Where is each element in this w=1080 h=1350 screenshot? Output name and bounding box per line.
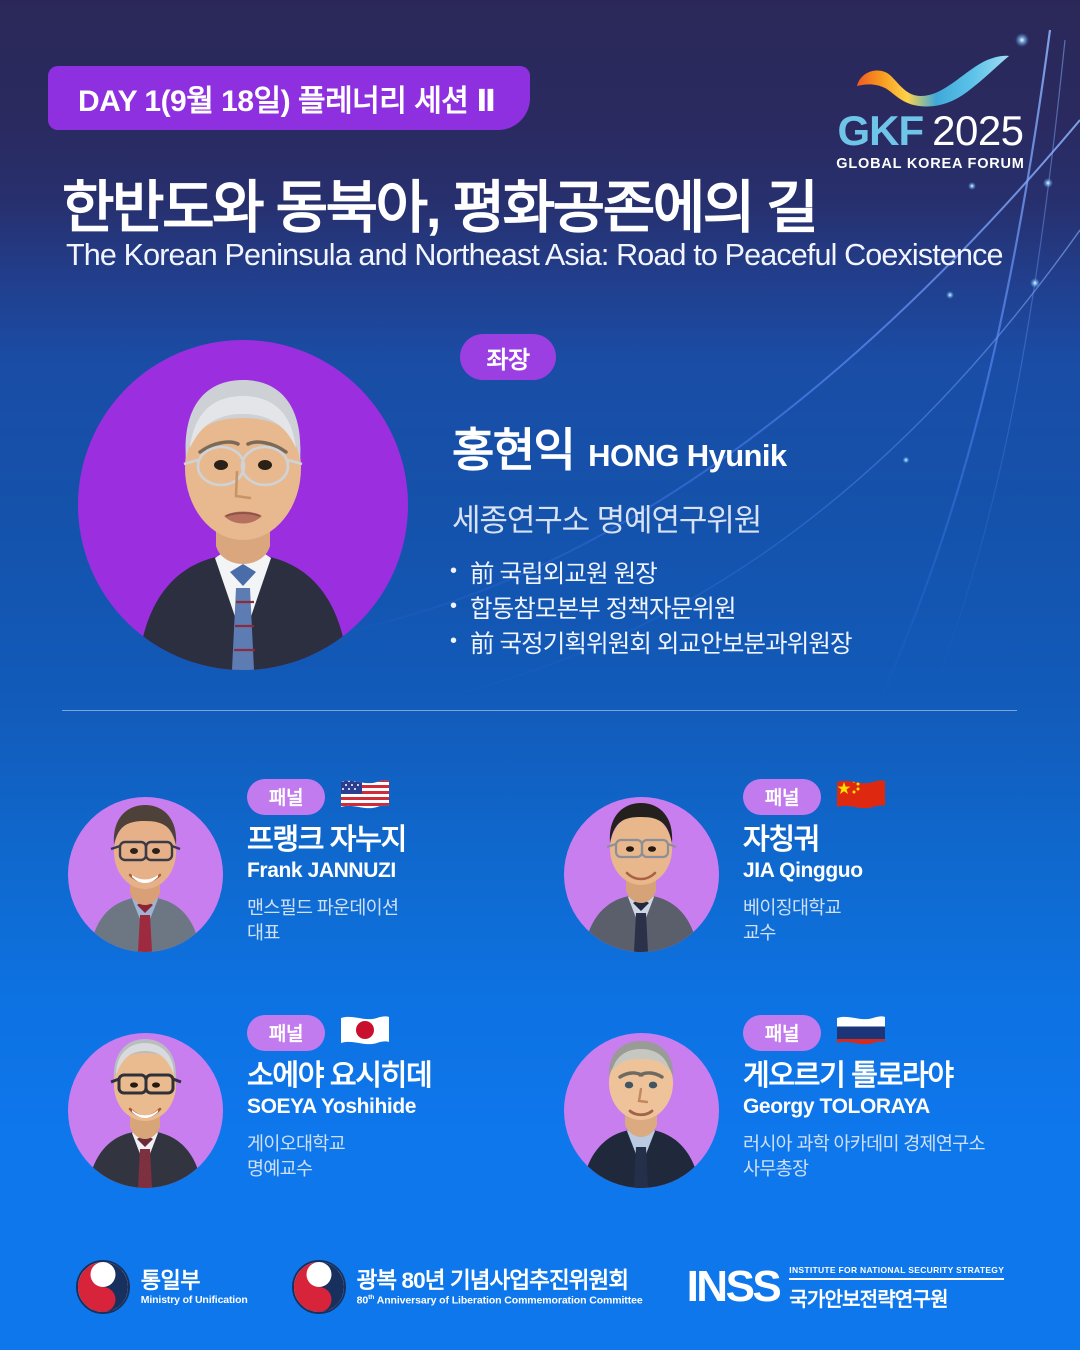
gkf-wave-icon: [851, 52, 1011, 108]
chair-avatar: [78, 300, 408, 670]
panelist-avatar: [62, 1004, 227, 1194]
gkf-logo: GKF 2025 GLOBAL KOREA FORUM: [823, 52, 1038, 172]
panelist-tagrow: 패널: [247, 1014, 431, 1051]
panelist-role-badge: 패널: [743, 779, 821, 815]
flag-usa-icon: [339, 778, 391, 815]
chair-affiliation: 세종연구소 명예연구위원: [452, 495, 761, 540]
panelist-name-english: JIA Qingguo: [743, 859, 887, 883]
mou-name-korean: 통일부: [141, 1268, 248, 1293]
panelist-info: 패널 게오르기 톨로라야 Georgy TOLORAYA 러시아 과학 아카데미…: [743, 1002, 985, 1182]
gkf-subtitle: GLOBAL KOREA FORUM: [823, 156, 1038, 172]
panelist-portrait-icon: [68, 1033, 223, 1188]
inss-name-korean: 국가안보전략연구원: [789, 1283, 1004, 1312]
inss-mark-text: INSS: [687, 1267, 780, 1307]
logo-ministry-of-unification: 통일부 Ministry of Unification: [76, 1260, 248, 1314]
day-session-badge: DAY 1(9월 18일) 플레너리 세션 Ⅱ: [48, 66, 530, 130]
panelist-info: 패널: [247, 766, 406, 946]
panelist-avatar-circle: [68, 797, 223, 952]
panelist-affiliation: 베이징대학교 교수: [743, 896, 887, 946]
inss-name-english: INSTITUTE FOR NATIONAL SECURITY STRATEGY: [789, 1265, 1004, 1275]
panelist-card-toloraya: 패널 게오르기 톨로라야 Georgy TOLORAYA 러시아 과학 아카데미…: [558, 1002, 1018, 1226]
chair-portrait-icon: [78, 340, 408, 670]
list-item: 前 국립외교원 원장: [450, 558, 852, 593]
gkf-year-text: 2025: [932, 110, 1023, 152]
panelist-grid: 패널: [0, 766, 1080, 1226]
panelist-info: 패널 소에야 요시히데 SOEYA Yoshihide 게이오대학교 명예교수: [247, 1002, 431, 1182]
inss-text-block: INSTITUTE FOR NATIONAL SECURITY STRATEGY…: [789, 1263, 1004, 1312]
panelist-name-korean: 게오르기 톨로라야: [743, 1059, 985, 1094]
logo-liberation-committee: 광복 80년 기념사업추진위원회 80th Anniversary of Lib…: [292, 1260, 643, 1314]
panelist-avatar-circle: [564, 797, 719, 952]
panelist-role-badge: 패널: [247, 1015, 325, 1051]
panelist-card-jia: 패널 자칭궈 JIA Qingguo: [558, 766, 1018, 990]
page-title-korean: 한반도와 동북아, 평화공존에의 길: [62, 162, 816, 244]
liberation-name-english: 80th Anniversary of Liberation Commemora…: [357, 1294, 643, 1307]
panelist-tagrow: 패널: [743, 1014, 985, 1051]
liberation-en-rest: Anniversary of Liberation Commemoration …: [374, 1294, 642, 1306]
flag-china-icon: [835, 778, 887, 815]
panelist-portrait-icon: [564, 797, 719, 952]
liberation-name-korean: 광복 80년 기념사업추진위원회: [357, 1268, 643, 1294]
panelist-affiliation: 맨스필드 파운데이션 대표: [247, 896, 406, 946]
panelist-name-english: Georgy TOLORAYA: [743, 1095, 985, 1119]
panelist-affiliation: 게이오대학교 명예교수: [247, 1132, 431, 1182]
section-divider: [62, 710, 1017, 711]
liberation-en-number: 80: [357, 1294, 368, 1306]
flag-russia-icon: [835, 1014, 887, 1051]
panelist-name-korean: 자칭궈: [743, 823, 887, 858]
panelist-portrait-icon: [564, 1033, 719, 1188]
panelist-name-english: Frank JANNUZI: [247, 859, 406, 883]
panelist-portrait-icon: [68, 797, 223, 952]
logo-inss: INSS INSTITUTE FOR NATIONAL SECURITY STR…: [687, 1263, 1005, 1312]
sponsor-footer: 통일부 Ministry of Unification 광복 80년 기념사업추…: [0, 1260, 1080, 1314]
panelist-card-soeya: 패널 소에야 요시히데 SOEYA Yoshihide 게이오대학교 명예교수: [62, 1002, 522, 1226]
panelist-tagrow: 패널: [247, 778, 406, 815]
panelist-role-badge: 패널: [247, 779, 325, 815]
panelist-role-badge: 패널: [743, 1015, 821, 1051]
panelist-name-korean: 소에야 요시히데: [247, 1059, 431, 1094]
gkf-mark-text: GKF: [837, 110, 923, 152]
chair-name-english: HONG Hyunik: [588, 438, 786, 474]
panelist-affiliation: 러시아 과학 아카데미 경제연구소 사무총장: [743, 1132, 985, 1182]
list-item: 합동참모본부 정책자문위원: [450, 593, 852, 628]
poster-canvas: DAY 1(9월 18일) 플레너리 세션 Ⅱ GKF 2025 GLOBAL …: [0, 0, 1080, 1350]
list-item: 前 국정기획위원회 외교안보분과위원장: [450, 628, 852, 663]
inss-divider: [789, 1278, 1004, 1280]
taeguk-icon: [292, 1260, 346, 1314]
chair-name-korean: 홍현익: [452, 414, 574, 480]
panelist-name-korean: 프랭크 자누지: [247, 823, 406, 858]
panelist-avatar-circle: [68, 1033, 223, 1188]
panelist-card-jannuzi: 패널: [62, 766, 522, 990]
flag-japan-icon: [339, 1014, 391, 1051]
panelist-avatar: [558, 768, 723, 958]
panelist-tagrow: 패널: [743, 778, 887, 815]
chair-avatar-circle: [78, 340, 408, 670]
panelist-avatar-circle: [564, 1033, 719, 1188]
panelist-info: 패널 자칭궈 JIA Qingguo: [743, 766, 887, 946]
mou-name-english: Ministry of Unification: [141, 1294, 248, 1306]
taeguk-icon: [76, 1260, 130, 1314]
panelist-avatar: [558, 1004, 723, 1194]
chair-role-badge: 좌장: [460, 334, 556, 380]
panelist-avatar: [62, 768, 227, 958]
panelist-name-english: SOEYA Yoshihide: [247, 1095, 431, 1119]
page-title-english: The Korean Peninsula and Northeast Asia:…: [66, 238, 1003, 273]
chair-credentials-list: 前 국립외교원 원장 합동참모본부 정책자문위원 前 국정기획위원회 외교안보분…: [450, 558, 852, 662]
chair-name: 홍현익 HONG Hyunik: [452, 414, 787, 480]
